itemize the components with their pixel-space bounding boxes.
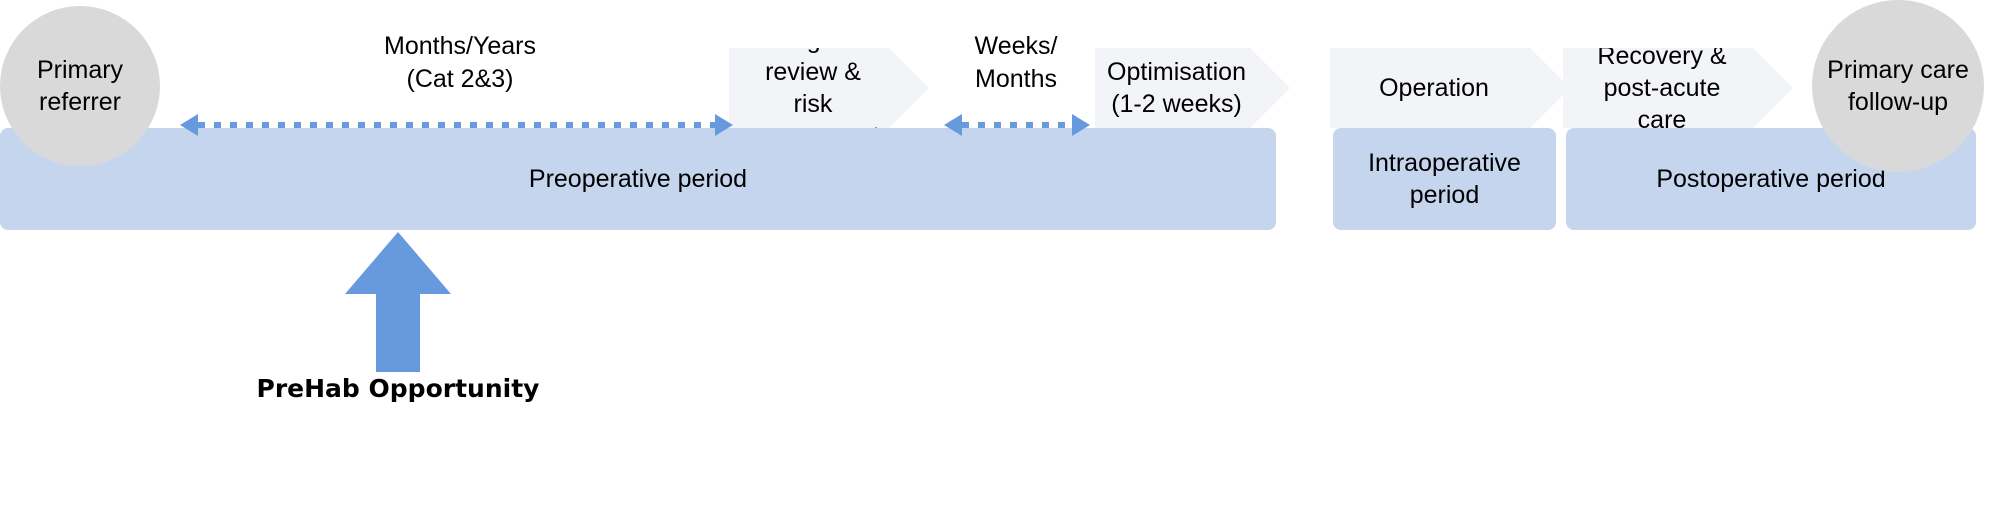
endpoint-circle-label: Primary care follow-up <box>1812 54 1984 118</box>
stage-recovery-post-acute-care[interactable]: Recovery & post-acute care <box>1563 48 1793 128</box>
endpoint-circle-label: Primary referrer <box>0 54 160 118</box>
stage-surgical-review[interactable]: Surgical review & risk assessment <box>729 48 929 128</box>
interval-caption-weeks-months: Weeks/ Months <box>940 30 1092 95</box>
period-band-intraoperative: Intraoperative period <box>1333 128 1556 230</box>
prehab-up-arrow <box>341 232 455 372</box>
period-band-preoperative: Preoperative period <box>0 128 1276 230</box>
stage-optimisation[interactable]: Optimisation (1-2 weeks) <box>1095 48 1290 128</box>
period-band-label: Intraoperative period <box>1333 147 1556 212</box>
dotted-double-arrow-icon <box>170 108 740 142</box>
endpoint-circle-primary-care-follow-up[interactable]: Primary care follow-up <box>1812 0 1984 172</box>
endpoint-circle-primary-referrer[interactable]: Primary referrer <box>0 6 160 166</box>
stage-operation[interactable]: Operation <box>1330 48 1570 128</box>
pathway-diagram: Preoperative period Intraoperative perio… <box>0 0 2000 510</box>
period-band-label: Preoperative period <box>521 163 755 196</box>
prehab-opportunity-label: PreHab Opportunity <box>248 374 548 403</box>
stage-label: Recovery & post-acute care <box>1563 40 1793 136</box>
stage-label: Operation <box>1365 72 1535 104</box>
interval-caption-months-years: Months/Years (Cat 2&3) <box>300 30 620 95</box>
stage-label: Optimisation (1-2 weeks) <box>1093 56 1292 120</box>
connector-weeks-months <box>936 108 1096 142</box>
connector-months-years <box>170 108 740 142</box>
dotted-double-arrow-icon <box>936 108 1096 142</box>
up-arrow-icon <box>341 232 455 372</box>
period-band-label: Postoperative period <box>1648 163 1893 196</box>
